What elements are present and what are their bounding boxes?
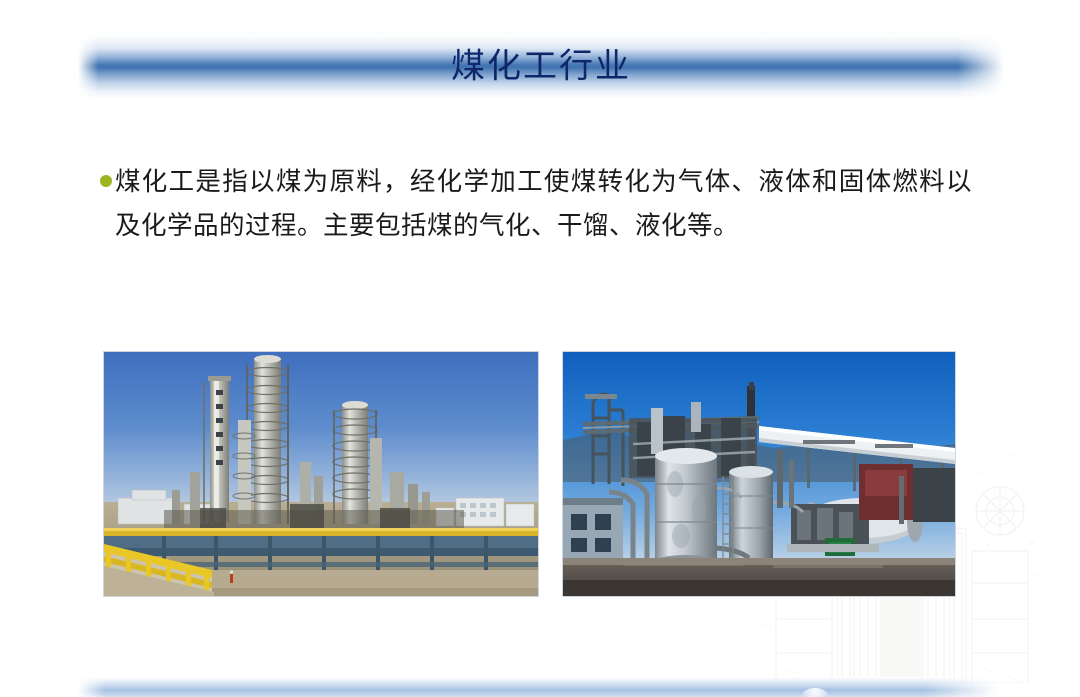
page-title: 煤化工行业: [78, 39, 1004, 88]
content-body: 煤化工是指以煤为原料，经化学加工使煤转化为气体、液体和固体燃料以及化学品的过程。…: [100, 160, 972, 248]
slide-canvas: 煤化工行业 煤化工是指以煤为原料，经化学加工使煤转化为气体、液体和固体燃料以及化…: [0, 0, 1080, 697]
bullet-item: 煤化工是指以煤为原料，经化学加工使煤转化为气体、液体和固体燃料以及化学品的过程。…: [100, 160, 972, 248]
photo-refinery-towers: [104, 352, 538, 596]
bottom-orb-icon: [802, 688, 828, 697]
title-banner: 煤化工行业: [78, 27, 1004, 99]
bottom-accent-bar: [78, 677, 998, 697]
photo-gasification-plant: [563, 352, 955, 596]
bullet-paragraph: 煤化工是指以煤为原料，经化学加工使煤转化为气体、液体和固体燃料以及化学品的过程。…: [115, 160, 972, 248]
bullet-dot-icon: [100, 175, 112, 187]
